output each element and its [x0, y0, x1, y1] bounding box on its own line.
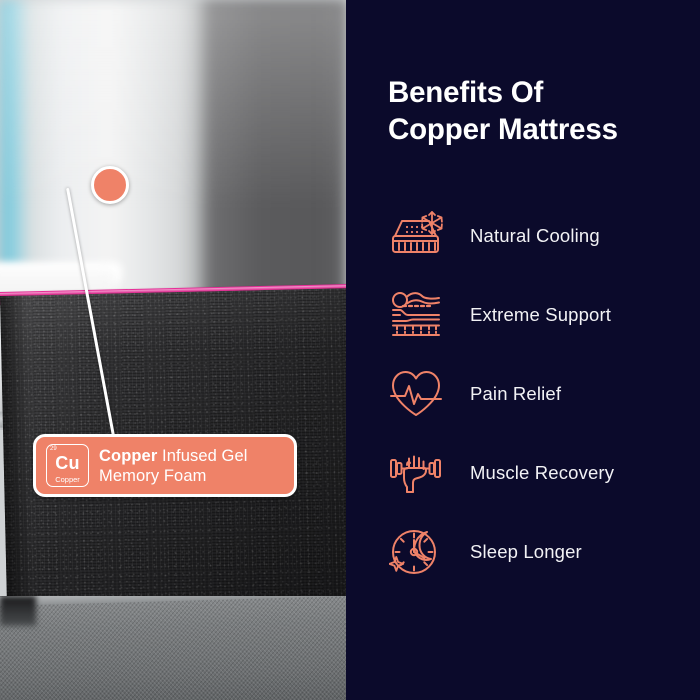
product-photo: 29 Cu Copper Copper Infused Gel Memory F… [0, 0, 346, 700]
callout-line1-rest: Infused Gel [157, 447, 247, 465]
bed-foundation [0, 596, 346, 700]
benefit-label: Pain Relief [454, 383, 561, 405]
clock-moon-icon [382, 526, 454, 578]
benefits-list: Natural Cooling [382, 196, 692, 591]
benefit-item-pain-relief[interactable]: Pain Relief [382, 354, 692, 433]
foundation-shadow [0, 596, 36, 626]
element-symbol: Cu [47, 454, 88, 473]
benefit-label: Extreme Support [454, 304, 611, 326]
hand-dumbbell-icon [382, 447, 454, 499]
atomic-number: 29 [50, 446, 57, 453]
benefit-label: Muscle Recovery [454, 462, 614, 484]
benefit-item-sleep-longer[interactable]: Sleep Longer [382, 512, 692, 591]
copper-element-badge: 29 Cu Copper [46, 444, 89, 487]
benefit-item-extreme-support[interactable]: Extreme Support [382, 275, 692, 354]
foundation-fabric [0, 596, 346, 700]
benefit-label: Natural Cooling [454, 225, 600, 247]
benefit-item-natural-cooling[interactable]: Natural Cooling [382, 196, 692, 275]
element-name: Copper [47, 475, 88, 484]
mattress-snowflake-icon [382, 210, 454, 262]
callout-bold-word: Copper [99, 447, 157, 465]
benefits-panel: Benefits Of Copper Mattress [346, 0, 700, 700]
heading-line-2: Copper Mattress [388, 111, 688, 148]
heading-line-1: Benefits Of [388, 74, 688, 111]
copper-foam-callout[interactable]: 29 Cu Copper Copper Infused Gel Memory F… [33, 434, 297, 497]
person-on-mattress-layers-icon [382, 289, 454, 341]
callout-line2: Memory Foam [99, 467, 206, 485]
benefit-item-muscle-recovery[interactable]: Muscle Recovery [382, 433, 692, 512]
benefit-label: Sleep Longer [454, 541, 582, 563]
heart-pulse-icon [382, 368, 454, 420]
hotspot-dot-icon[interactable] [91, 166, 129, 204]
infographic-page: 29 Cu Copper Copper Infused Gel Memory F… [0, 0, 700, 700]
page-title: Benefits Of Copper Mattress [388, 74, 688, 148]
callout-text: Copper Infused Gel Memory Foam [99, 446, 248, 486]
background-light-wash [0, 0, 346, 300]
